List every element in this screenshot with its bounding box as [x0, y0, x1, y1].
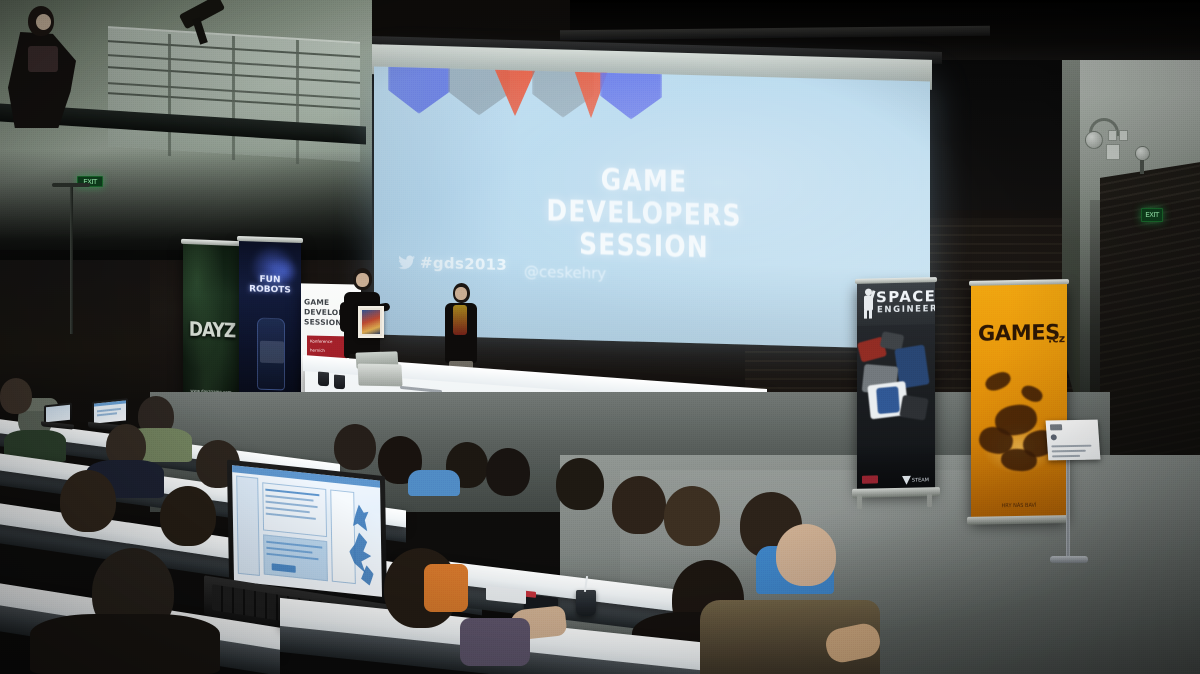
info-sign-line	[1051, 445, 1091, 447]
ui-line	[97, 412, 117, 416]
stage-cup	[318, 372, 329, 387]
audience-head	[334, 424, 376, 470]
audience-head	[60, 470, 116, 532]
space-engineers-banner: SPACE ENGINEERS STEAM	[857, 280, 935, 493]
space-engineers-footer	[857, 443, 935, 493]
info-sign-line	[1052, 450, 1086, 452]
railing-post	[168, 34, 171, 156]
person-shirt	[28, 46, 58, 72]
speaker-arm	[340, 302, 349, 332]
speaker-face	[356, 273, 369, 287]
wall-panel	[1106, 144, 1120, 160]
ui-line	[97, 408, 121, 412]
audience-shirt-blue	[408, 470, 460, 496]
speaker-face	[455, 287, 467, 300]
info-sign	[1046, 420, 1101, 461]
exit-sign-glyph: EXIT	[1145, 211, 1159, 219]
stage-laptop-base	[357, 364, 402, 387]
fun-robots-title: FUN ROBOTS	[239, 275, 301, 297]
railing-post	[296, 40, 299, 164]
gds-banner-line-1: GAME	[304, 297, 329, 307]
audience-head	[160, 486, 216, 546]
bottle-label	[260, 341, 284, 364]
wall-switch-box	[1108, 130, 1117, 141]
banner-partner-logo	[862, 475, 878, 483]
banner-foot	[857, 495, 862, 509]
ui-titlebar	[94, 400, 126, 406]
wall-light-fixture	[1085, 131, 1103, 149]
balcony-person	[6, 6, 80, 128]
steam-label: STEAM	[912, 477, 929, 483]
audience-head	[612, 476, 666, 534]
games-cz-tagline: HRY NÁS BAVÍ	[971, 502, 1067, 510]
astronaut-figure-icon	[863, 288, 874, 318]
speaker-lanyard	[453, 305, 467, 335]
games-cz-suffix: .cz	[1048, 332, 1065, 345]
audience-head	[486, 448, 530, 496]
wifi-icon	[1051, 434, 1057, 440]
space-engineers-title-2: ENGINEERS	[877, 304, 935, 315]
ui-graphic	[352, 504, 368, 532]
foreground-laptop-screen	[227, 460, 387, 603]
emergency-exit-sign-right: EXIT	[1141, 208, 1163, 222]
ui-sidebar	[236, 476, 260, 577]
speaker-stem	[1140, 160, 1144, 174]
drink-cup	[576, 590, 596, 616]
conference-hall-photo: EXIT EXIT GAME DEVELOPERS SESSION #gds20…	[0, 0, 1200, 674]
gds-banner-line-3: SESSION	[304, 318, 342, 328]
audience-head	[556, 458, 604, 510]
ui-right-panel	[330, 489, 356, 584]
wall-speaker	[1135, 146, 1150, 161]
space-engineers-header: SPACE ENGINEERS	[857, 280, 935, 326]
info-sign-line	[1052, 455, 1080, 457]
art-shape	[899, 395, 928, 421]
art-creature	[983, 369, 1013, 394]
audience-shoulders	[30, 614, 220, 674]
stand-pole	[70, 184, 73, 334]
foreground-laptop-display	[232, 465, 382, 597]
audience-head	[664, 486, 720, 546]
sign-stand-pole	[1066, 456, 1070, 562]
sign-stand-foot	[1050, 556, 1088, 563]
laptop-base	[41, 421, 74, 429]
banner-foot	[927, 493, 932, 507]
space-engineers-artwork	[857, 324, 935, 446]
audience-sleeve	[460, 618, 530, 666]
stand-arm	[52, 183, 90, 187]
person-face	[36, 14, 51, 30]
laptop-screen	[92, 398, 128, 426]
fun-robots-line-2: ROBOTS	[249, 284, 291, 295]
laptop-display	[46, 405, 70, 423]
audience-laptop	[40, 404, 74, 430]
art-shape	[876, 386, 900, 414]
dayz-banner-title: DAYZ	[184, 318, 239, 343]
audience-shirt-orange	[424, 564, 468, 612]
speaker-held-poster	[358, 306, 384, 338]
info-sign-logo	[1050, 424, 1062, 430]
robots-artwork-bottle	[257, 318, 285, 391]
audience-head	[0, 378, 32, 414]
laptop-display	[94, 400, 126, 423]
wall-switch-box	[1119, 130, 1128, 141]
audience-head	[776, 524, 836, 586]
stage-cup	[334, 375, 345, 390]
railing-post	[232, 36, 235, 160]
art-creature	[1019, 383, 1045, 405]
poster-artwork	[362, 310, 380, 334]
games-cz-banner: GAMES .cz HRY NÁS BAVÍ	[971, 282, 1067, 520]
